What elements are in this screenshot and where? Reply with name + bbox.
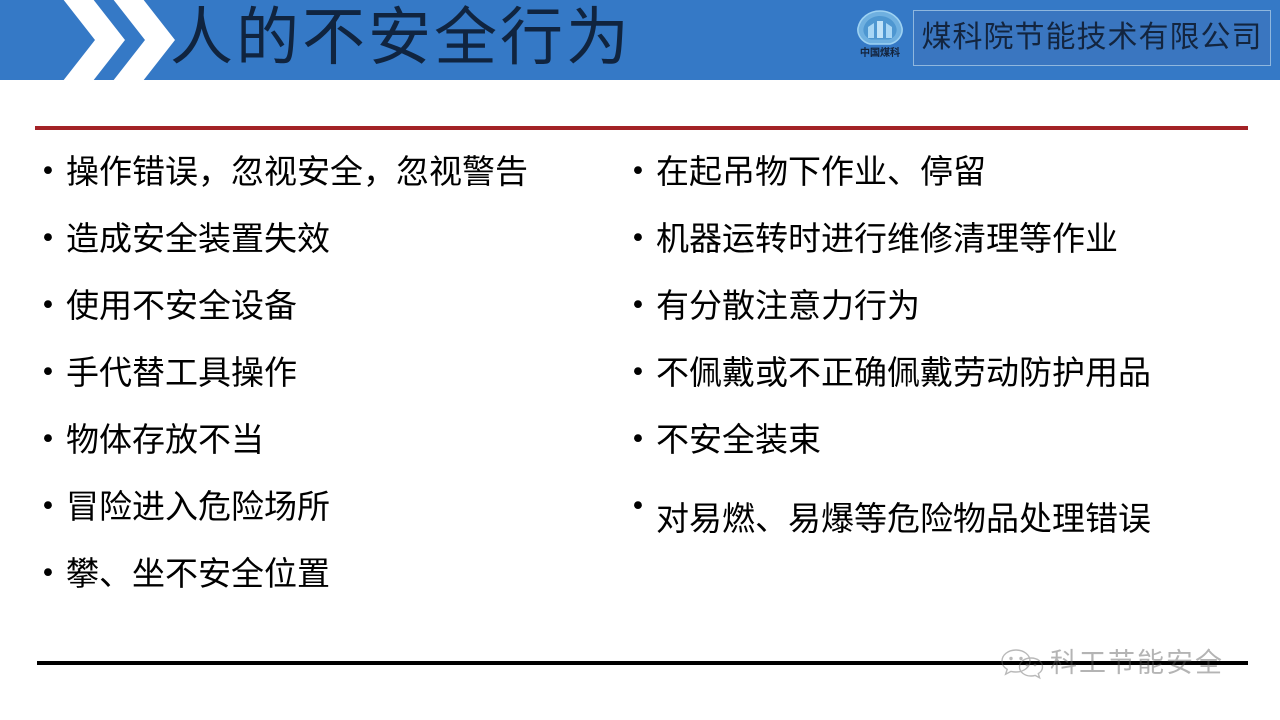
- bullet-dot-icon: •: [630, 418, 656, 462]
- list-item-label: 物体存放不当: [66, 418, 630, 462]
- list-item-label: 在起吊物下作业、停留: [656, 150, 1260, 194]
- list-item-label: 机器运转时进行维修清理等作业: [656, 217, 1260, 261]
- bullet-dot-icon: •: [630, 217, 656, 261]
- company-name-box: 煤科院节能技术有限公司: [913, 10, 1271, 66]
- bullet-dot-icon: •: [40, 552, 66, 596]
- list-item-label: 冒险进入危险场所: [66, 485, 630, 529]
- page-title: 人的不安全行为: [170, 0, 632, 80]
- list-item-label: 操作错误，忽视安全，忽视警告: [66, 150, 630, 194]
- list-item-label: 对易燃、易爆等危险物品处理错误: [656, 485, 1260, 552]
- list-item-label: 造成安全装置失效: [66, 217, 630, 261]
- list-item: • 物体存放不当: [40, 418, 630, 485]
- red-divider-line: [35, 126, 1248, 130]
- bullet-dot-icon: •: [40, 351, 66, 395]
- list-item-label: 有分散注意力行为: [656, 284, 1260, 328]
- bullet-dot-icon: •: [630, 351, 656, 395]
- list-item: • 冒险进入危险场所: [40, 485, 630, 552]
- bullet-dot-icon: •: [40, 284, 66, 328]
- china-coal-emblem-icon: [855, 9, 905, 47]
- bullet-dot-icon: •: [40, 418, 66, 462]
- company-logo: 中国煤科: [848, 9, 912, 71]
- list-item-label: 攀、坐不安全位置: [66, 552, 630, 596]
- bullet-dot-icon: •: [40, 150, 66, 194]
- list-item: • 操作错误，忽视安全，忽视警告: [40, 150, 630, 217]
- watermark-label: 科工节能安全: [1050, 649, 1224, 679]
- bullet-dot-icon: •: [630, 150, 656, 194]
- company-logo-caption: 中国煤科: [848, 48, 912, 59]
- list-item: • 造成安全装置失效: [40, 217, 630, 284]
- list-item: • 手代替工具操作: [40, 351, 630, 418]
- list-item: • 使用不安全设备: [40, 284, 630, 351]
- list-item-label: 不安全装束: [656, 418, 1260, 462]
- list-item: • 在起吊物下作业、停留: [630, 150, 1260, 217]
- list-item-label: 不佩戴或不正确佩戴劳动防护用品: [656, 351, 1260, 395]
- watermark: 科工节能安全: [1000, 640, 1260, 688]
- list-item: • 攀、坐不安全位置: [40, 552, 630, 619]
- slide-header-bar: 人的不安全行为 中国煤科 煤科院节能技术有限公司: [0, 0, 1280, 80]
- bullet-dot-icon: •: [40, 485, 66, 529]
- bullet-list-right: • 在起吊物下作业、停留 • 机器运转时进行维修清理等作业 • 有分散注意力行为…: [630, 150, 1260, 552]
- chevron-right-icon-2: [105, 0, 179, 80]
- bullet-dot-icon: •: [630, 485, 656, 529]
- bullet-dot-icon: •: [630, 284, 656, 328]
- list-item: • 对易燃、易爆等危险物品处理错误: [630, 485, 1260, 552]
- company-name-text: 煤科院节能技术有限公司: [922, 21, 1263, 55]
- bullet-list-left: • 操作错误，忽视安全，忽视警告 • 造成安全装置失效 • 使用不安全设备 • …: [40, 150, 630, 619]
- slide-content: • 操作错误，忽视安全，忽视警告 • 造成安全装置失效 • 使用不安全设备 • …: [0, 150, 1280, 650]
- bullet-dot-icon: •: [40, 217, 66, 261]
- list-item: • 不佩戴或不正确佩戴劳动防护用品: [630, 351, 1260, 418]
- list-item-label: 使用不安全设备: [66, 284, 630, 328]
- list-item: • 不安全装束: [630, 418, 1260, 485]
- list-item-label: 手代替工具操作: [66, 351, 630, 395]
- list-item: • 有分散注意力行为: [630, 284, 1260, 351]
- wechat-icon: [1000, 647, 1046, 681]
- list-item: • 机器运转时进行维修清理等作业: [630, 217, 1260, 284]
